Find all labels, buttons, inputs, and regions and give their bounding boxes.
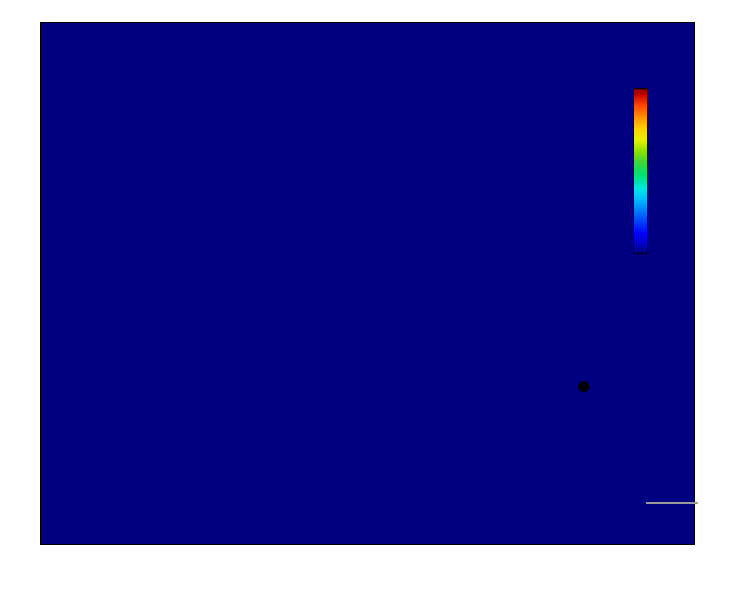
map-plot-area <box>40 22 695 545</box>
bathymetry-scale-legend <box>646 500 698 504</box>
drifter-symbol-slot <box>607 310 629 325</box>
scale-bar-line <box>646 502 698 504</box>
current-vector-annotation <box>470 62 484 224</box>
dongara-marker-icon <box>578 381 589 392</box>
sst-age-heatmap-canvas <box>41 23 694 544</box>
legend-row-drifters <box>607 310 629 325</box>
colorbar-gradient <box>633 88 648 254</box>
colorbar <box>633 88 648 254</box>
map-legend <box>607 310 629 325</box>
